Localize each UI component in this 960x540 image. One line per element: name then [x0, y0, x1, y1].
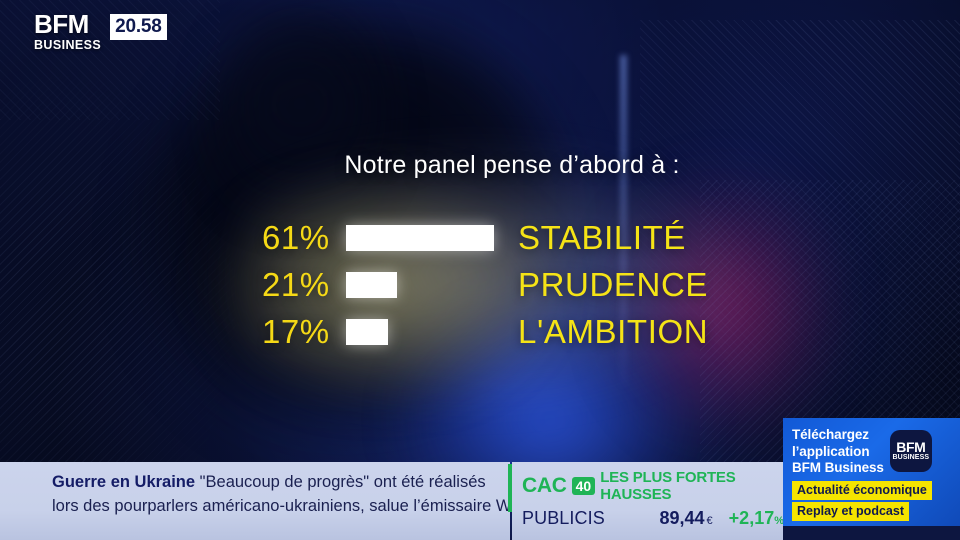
channel-logo: BFM BUSINESS 20.58 [34, 12, 167, 52]
bfm-business-app-icon: BFM BUSINESS [890, 430, 932, 472]
poll-bar [346, 272, 397, 298]
poll-rows: 61% STABILITÉ 21% PRUDENCE 17% L'AMBITIO… [248, 214, 748, 355]
poll-bar [346, 319, 388, 345]
background-hatch-left [0, 70, 240, 470]
poll-label: L'AMBITION [518, 313, 708, 351]
poll-label: PRUDENCE [518, 266, 708, 304]
market-stock-name: PUBLICIS [522, 508, 660, 529]
promo-line-3: BFM Business [792, 460, 884, 477]
poll-percent: 21% [248, 266, 346, 304]
promo-badge-replay: Replay et podcast [792, 502, 909, 521]
on-air-clock: 20.58 [110, 14, 167, 40]
poll-percent: 61% [248, 219, 346, 257]
poll-bar-cell [346, 319, 506, 345]
poll-row: 61% STABILITÉ [248, 214, 748, 261]
poll-percent: 17% [248, 313, 346, 351]
poll-graphic: Notre panel pense d’abord à : 61% STABIL… [248, 150, 748, 355]
promo-top: Téléchargez l’application BFM Business B… [783, 418, 960, 477]
market-quote-row: PUBLICIS 89,44 € +2,17% [512, 503, 784, 529]
promo-badge-economy: Actualité économique [792, 481, 932, 500]
market-index-number: 40 [572, 477, 596, 495]
news-ticker: Guerre en Ukraine "Beaucoup de progrès" … [0, 462, 510, 540]
poll-bar-cell [346, 225, 506, 251]
panel-separator [508, 464, 512, 512]
market-index-name: CAC [522, 474, 567, 498]
news-headline-line1: Guerre en Ukraine "Beaucoup de progrès" … [52, 471, 496, 493]
news-kicker: Guerre en Ukraine [52, 473, 195, 491]
market-panel: CAC 40 LES PLUS FORTES HAUSSES PUBLICIS … [512, 462, 784, 540]
broadcast-screen: BFM BUSINESS 20.58 Notre panel pense d’a… [0, 0, 960, 540]
poll-bar-cell [346, 272, 506, 298]
market-price: 89,44 [660, 508, 705, 529]
app-promo-box[interactable]: Téléchargez l’application BFM Business B… [783, 418, 960, 540]
logo-bfm-text: BFM [34, 12, 101, 37]
poll-row: 21% PRUDENCE [248, 261, 748, 308]
poll-title: Notre panel pense d’abord à : [248, 150, 748, 180]
market-header: CAC 40 LES PLUS FORTES HAUSSES [512, 462, 784, 503]
poll-row: 17% L'AMBITION [248, 308, 748, 355]
promo-badges: Actualité économique Replay et podcast [783, 477, 960, 523]
promo-line-2: l’application [792, 444, 884, 461]
promo-line-1: Téléchargez [792, 427, 884, 444]
market-variation: +2,17% [729, 508, 784, 529]
poll-label: STABILITÉ [518, 219, 686, 257]
logo-business-text: BUSINESS [34, 38, 101, 52]
news-text-line1: "Beaucoup de progrès" ont été réalisés [200, 473, 486, 491]
market-currency-symbol: € [707, 515, 713, 527]
promo-footer-strip [783, 526, 960, 540]
app-icon-bfm-text: BFM [896, 441, 925, 454]
bfm-business-wordmark: BFM BUSINESS [34, 12, 101, 52]
promo-text: Téléchargez l’application BFM Business [792, 427, 884, 477]
poll-bar [346, 225, 494, 251]
news-text-line2: lors des pourparlers américano-ukrainien… [52, 495, 496, 517]
app-icon-business-text: BUSINESS [893, 454, 930, 462]
market-variation-value: +2,17 [729, 508, 775, 528]
market-headline: LES PLUS FORTES HAUSSES [600, 469, 784, 503]
